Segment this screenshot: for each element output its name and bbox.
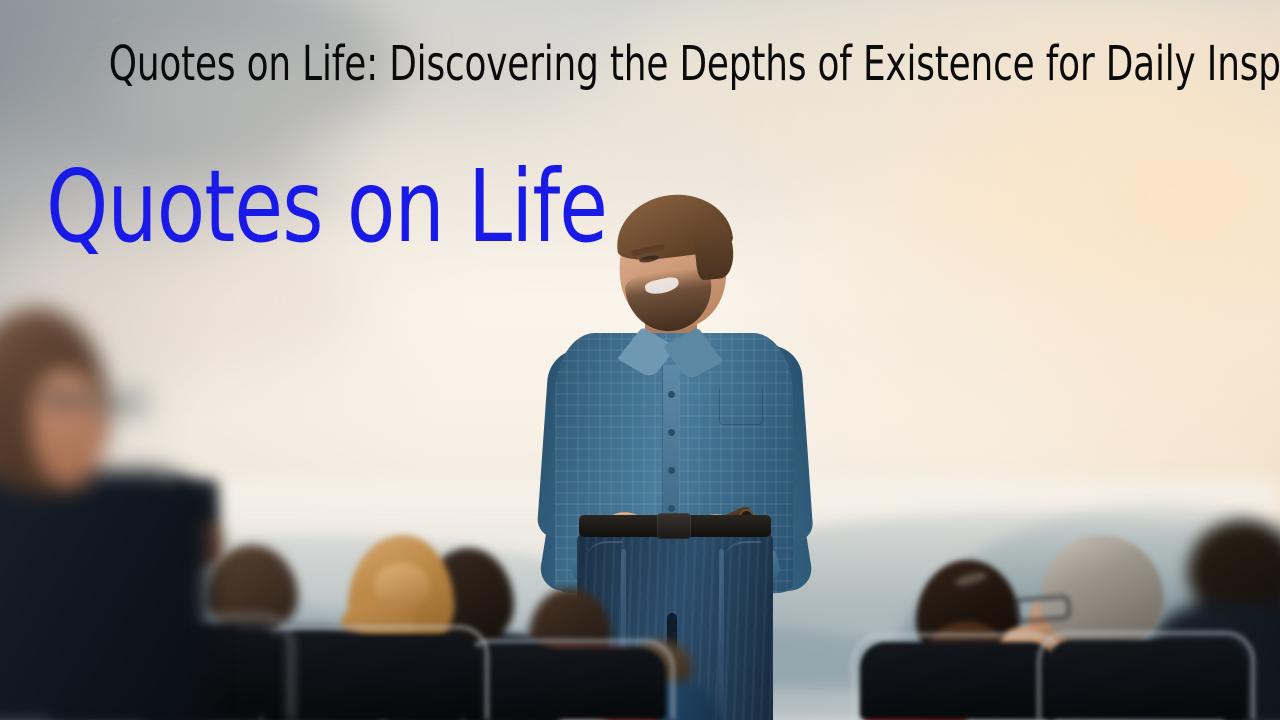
- glasses-lens-icon: [116, 386, 148, 418]
- chair: [860, 642, 1056, 720]
- speaker-shirt-button: [668, 505, 675, 512]
- chair: [470, 648, 666, 720]
- jeans-pocket: [725, 541, 761, 567]
- speaker-belt-buckle: [657, 513, 691, 539]
- torso: [0, 470, 210, 720]
- speaker-shirt-pocket: [719, 389, 763, 425]
- chair: [1046, 640, 1246, 720]
- glasses-icon: [1013, 595, 1071, 623]
- speaker-shirt-button: [668, 391, 675, 398]
- jeans-pocket: [587, 541, 623, 567]
- chair: [268, 634, 480, 720]
- page-stage: Quotes on Life: Discovering the Depths o…: [0, 0, 1280, 720]
- speaker-shirt-button: [668, 467, 675, 474]
- page-title: Quotes on Life: Discovering the Depths o…: [109, 38, 1171, 90]
- page-subheading: Quotes on Life: [46, 155, 607, 259]
- jeans-crease: [719, 549, 724, 717]
- audience-foreground-left-viewer: [0, 300, 200, 720]
- speaker-shirt-button: [668, 429, 675, 436]
